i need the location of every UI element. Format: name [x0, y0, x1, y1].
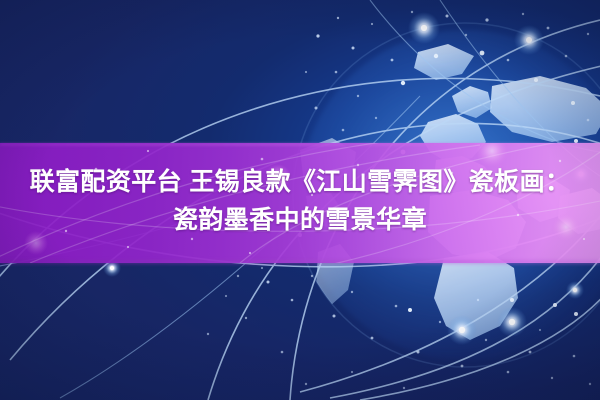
banner-image: 联富配资平台 王锡良款《江山雪霁图》瓷板画： 瓷韵墨香中的雪景华章 — [0, 0, 600, 400]
vignette-overlay — [0, 0, 600, 400]
